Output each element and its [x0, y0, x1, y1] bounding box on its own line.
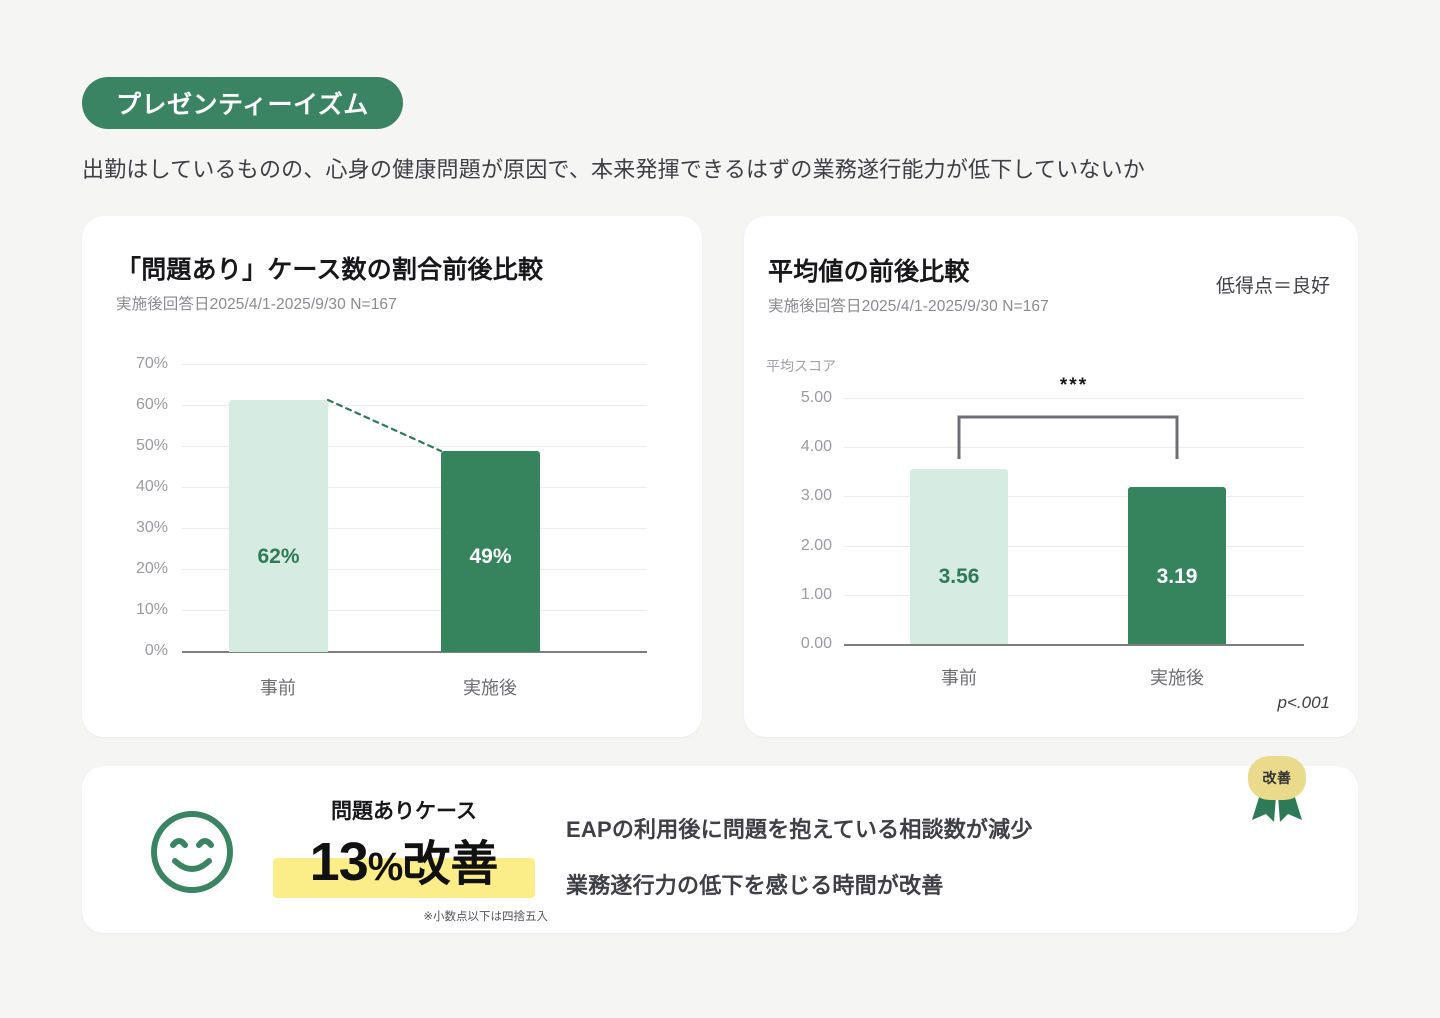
ytick-label-10: 10%: [106, 601, 168, 619]
summary-hero-number: 13: [310, 832, 368, 892]
case-ratio-chart-card: 「問題あり」ケース数の割合前後比較 実施後回答日2025/4/1-2025/9/…: [82, 216, 702, 737]
right-chart-plot: 3.56 3.19: [844, 398, 1304, 645]
bar-post: 3.19: [1128, 487, 1226, 644]
left-chart-title: 「問題あり」ケース数の割合前後比較: [116, 250, 543, 286]
section-badge: プレゼンティーイズム: [82, 77, 403, 129]
summary-line-1: EAPの利用後に問題を抱えている相談数が減少: [566, 812, 1033, 844]
presenteeism-report-page: プレゼンティーイズム 出勤はしているものの、心身の健康問題が原因で、本来発揮でき…: [0, 0, 1440, 1018]
gridline-4: [844, 447, 1304, 448]
ytick-label-20: 20%: [106, 560, 168, 578]
ytick-label-5: 5.00: [760, 389, 832, 407]
bar-pre-value: 62%: [229, 545, 328, 569]
left-chart-subtitle: 実施後回答日2025/4/1-2025/9/30 N=167: [116, 292, 397, 314]
summary-hero-text: 13%改善: [310, 835, 499, 889]
ytick-label-50: 50%: [106, 437, 168, 455]
bar-post-value: 3.19: [1128, 565, 1226, 589]
xtick-label-pre: 事前: [179, 674, 377, 700]
gridline-5: [844, 398, 1304, 399]
ytick-label-0: 0%: [106, 642, 168, 660]
y-axis-label: 平均スコア: [766, 356, 836, 376]
summary-hero-percent: %: [368, 845, 403, 889]
xtick-label-pre: 事前: [859, 664, 1059, 690]
summary-kicker: 問題ありケース: [268, 795, 540, 825]
right-chart-title: 平均値の前後比較: [768, 252, 970, 288]
p-value-label: p<.001: [1278, 693, 1330, 713]
ytick-label-30: 30%: [106, 519, 168, 537]
summary-line-2: 業務遂行力の低下を感じる時間が改善: [566, 868, 943, 900]
xtick-label-post: 実施後: [391, 674, 589, 700]
bar-pre-value: 3.56: [910, 565, 1008, 589]
smiley-face-icon: [148, 808, 236, 901]
section-description: 出勤はしているものの、心身の健康問題が原因で、本来発揮できるはずの業務遂行能力が…: [82, 152, 1145, 184]
ribbon-label: 改善: [1263, 768, 1292, 788]
ytick-label-60: 60%: [106, 396, 168, 414]
ytick-label-40: 40%: [106, 478, 168, 496]
ytick-label-3: 3.00: [760, 487, 832, 505]
gridline-70: [182, 364, 647, 365]
section-badge-label: プレゼンティーイズム: [116, 85, 369, 121]
ytick-label-2: 2.00: [760, 537, 832, 555]
left-chart-plot: 62% 49%: [182, 364, 647, 652]
summary-hero-metric: 13%改善: [268, 826, 540, 898]
bar-pre: 3.56: [910, 469, 1008, 644]
ytick-label-70: 70%: [106, 355, 168, 373]
bar-post: 49%: [441, 451, 540, 652]
low-score-good-note: 低得点＝良好: [1216, 271, 1330, 298]
ytick-label-0: 0.00: [760, 635, 832, 653]
bar-post-value: 49%: [441, 545, 540, 569]
summary-footnote: ※小数点以下は四捨五入: [268, 908, 548, 924]
significance-stars: ***: [844, 375, 1304, 397]
summary-hero-kanji: 改善: [402, 838, 498, 891]
ribbon-label-container: 改善: [1248, 756, 1306, 800]
xtick-label-post: 実施後: [1077, 664, 1277, 690]
right-chart-subtitle: 実施後回答日2025/4/1-2025/9/30 N=167: [768, 294, 1049, 316]
mean-score-chart-card: 平均値の前後比較 実施後回答日2025/4/1-2025/9/30 N=167 …: [744, 216, 1358, 737]
bar-pre: 62%: [229, 400, 328, 652]
ytick-label-1: 1.00: [760, 586, 832, 604]
ytick-label-4: 4.00: [760, 438, 832, 456]
x-axis-line: [844, 644, 1304, 646]
